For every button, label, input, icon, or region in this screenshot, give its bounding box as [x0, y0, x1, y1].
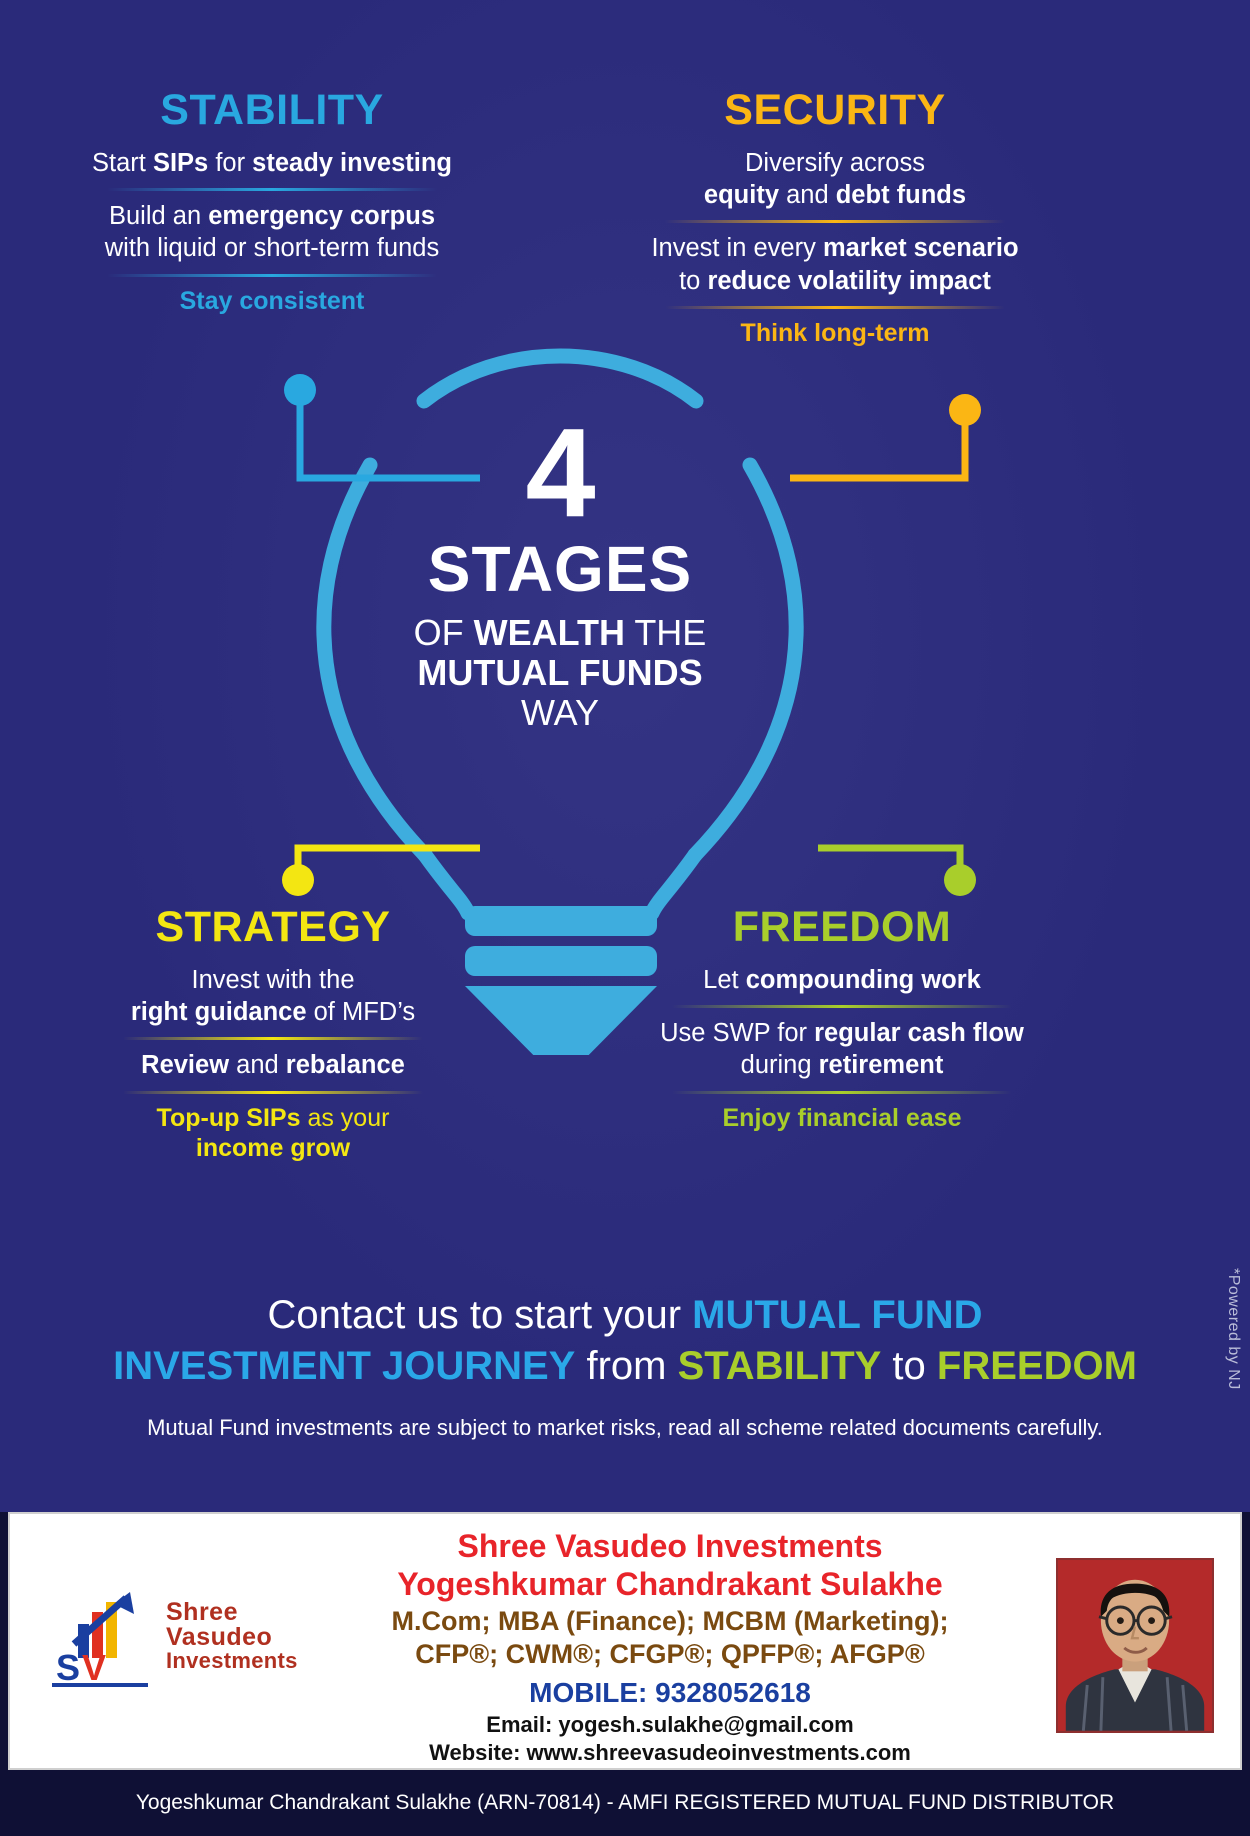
- quadrant-security-tag: Think long-term: [610, 318, 1060, 348]
- svg-text:S: S: [56, 1647, 80, 1688]
- stage-count: 4: [340, 415, 780, 531]
- quadrant-freedom-tag: Enjoy financial ease: [632, 1103, 1052, 1133]
- arn-registration-bar: Yogeshkumar Chandrakant Sulakhe (ARN-708…: [0, 1770, 1250, 1836]
- cta-line-1: Contact us to start your MUTUAL FUND: [50, 1290, 1200, 1341]
- quadrant-strategy-heading: STRATEGY: [88, 905, 458, 950]
- quadrant-stability-tag: Stay consistent: [42, 286, 502, 316]
- cta-line-2: INVESTMENT JOURNEY from STABILITY to FRE…: [50, 1341, 1200, 1392]
- quadrant-strategy-tag: Top-up SIPs as your income grow: [88, 1103, 458, 1163]
- text-run: with liquid or short-term funds: [105, 234, 439, 262]
- text-run: rebalance: [286, 1051, 405, 1079]
- divider-stability-2: [107, 274, 437, 277]
- qualifications-line-1: M.Com; MBA (Finance); MCBM (Marketing);: [340, 1606, 1000, 1638]
- text-run: STABILITY: [678, 1344, 882, 1388]
- text-run: to: [679, 267, 707, 295]
- brand-logo-words: Shree Vasudeo Investments: [166, 1600, 298, 1672]
- text-run: to: [881, 1344, 937, 1388]
- quadrant-security-body-1: Diversify across equity and debt funds: [610, 147, 1060, 211]
- quadrant-stability-body-1: Start SIPs for steady investing: [42, 147, 502, 179]
- qualifications-line-2: CFP®; CWM®; CFGP®; QPFP®; AFGP®: [340, 1639, 1000, 1671]
- quadrant-freedom-body-2: Use SWP for regular cash flow during ret…: [632, 1017, 1052, 1081]
- text-run: reduce volatility impact: [707, 267, 990, 295]
- text-run: Let: [703, 966, 746, 994]
- text-run: for: [208, 149, 252, 177]
- headline-line-4: MUTUAL FUNDS: [340, 655, 780, 691]
- text-run: Review: [141, 1051, 229, 1079]
- text-run: Contact us to start your: [268, 1293, 693, 1337]
- poster-root: 4 STAGES OF WEALTH THE MUTUAL FUNDS WAY …: [0, 0, 1250, 1836]
- text-run: Use SWP for: [660, 1019, 814, 1047]
- quadrant-stability-body-2: Build an emergency corpus with liquid or…: [42, 200, 502, 264]
- quadrant-freedom-heading: FREEDOM: [632, 905, 1052, 950]
- text-run: as your: [301, 1104, 390, 1132]
- text-run: during: [741, 1051, 819, 1079]
- quadrant-stability-heading: STABILITY: [42, 88, 502, 133]
- text-run: Invest with the: [192, 966, 355, 994]
- text-run: debt funds: [836, 181, 966, 209]
- quadrant-security: SECURITY Diversify across equity and deb…: [610, 88, 1060, 348]
- divider-strategy-2: [123, 1091, 423, 1094]
- brand-logo: S V Shree Vasudeo Investments: [48, 1576, 328, 1696]
- mobile-number[interactable]: MOBILE: 9328052618: [340, 1676, 1000, 1709]
- text-run: from: [575, 1344, 677, 1388]
- text-run: MUTUAL FUND: [692, 1293, 982, 1337]
- divider-security-1: [665, 220, 1005, 223]
- headline-the: THE: [625, 612, 706, 653]
- text-run: SIPs: [153, 149, 208, 177]
- risk-disclaimer: Mutual Fund investments are subject to m…: [40, 1415, 1210, 1441]
- text-run: regular cash flow: [814, 1019, 1024, 1047]
- quadrant-freedom: FREEDOM Let compounding work Use SWP for…: [632, 905, 1052, 1133]
- headline-line-3: OF WEALTH THE: [340, 615, 780, 651]
- company-name: Shree Vasudeo Investments: [340, 1528, 1000, 1566]
- logo-word-3: Investments: [166, 1650, 298, 1672]
- text-run: Start: [92, 149, 153, 177]
- arn-text: Yogeshkumar Chandrakant Sulakhe (ARN-708…: [136, 1791, 1114, 1815]
- stages-word: STAGES: [340, 537, 780, 601]
- advisor-name: Yogeshkumar Chandrakant Sulakhe: [340, 1566, 1000, 1604]
- email-address[interactable]: Email: yogesh.sulakhe@gmail.com: [340, 1712, 1000, 1738]
- logo-word-1: Shree: [166, 1600, 298, 1625]
- svg-text:V: V: [82, 1647, 106, 1688]
- sv-logo-icon: S V: [48, 1584, 156, 1688]
- text-run: INVESTMENT JOURNEY: [113, 1344, 575, 1388]
- text-run: emergency corpus: [208, 202, 435, 230]
- quadrant-strategy-body-1: Invest with the right guidance of MFD’s: [88, 964, 458, 1028]
- text-run: steady investing: [252, 149, 452, 177]
- text-run: FREEDOM: [937, 1344, 1137, 1388]
- quadrant-security-heading: SECURITY: [610, 88, 1060, 133]
- logo-word-2: Vasudeo: [166, 1625, 298, 1650]
- text-run: right guidance: [131, 998, 307, 1026]
- quadrant-strategy: STRATEGY Invest with the right guidance …: [88, 905, 458, 1163]
- divider-freedom-1: [672, 1005, 1012, 1008]
- company-details: Shree Vasudeo Investments Yogeshkumar Ch…: [340, 1528, 1000, 1766]
- call-to-action: Contact us to start your MUTUAL FUND INV…: [50, 1290, 1200, 1392]
- quadrant-stability: STABILITY Start SIPs for steady investin…: [42, 88, 502, 316]
- divider-strategy-1: [123, 1037, 423, 1040]
- text-run: market scenario: [823, 234, 1019, 262]
- text-run: Invest in every: [651, 234, 823, 262]
- text-run: retirement: [819, 1051, 944, 1079]
- text-run: equity: [704, 181, 779, 209]
- divider-security-2: [665, 306, 1005, 309]
- quadrant-freedom-body-1: Let compounding work: [632, 964, 1052, 996]
- text-run: Diversify across: [745, 149, 925, 177]
- divider-stability-1: [107, 188, 437, 191]
- text-run: income grow: [196, 1134, 350, 1162]
- text-run: and: [779, 181, 836, 209]
- powered-by-label: *Powered by NJ: [1224, 1268, 1242, 1390]
- text-run: compounding work: [746, 966, 981, 994]
- center-headline: 4 STAGES OF WEALTH THE MUTUAL FUNDS WAY: [340, 415, 780, 731]
- text-run: Build an: [109, 202, 208, 230]
- headline-wealth: WEALTH: [474, 612, 625, 653]
- text-run: of MFD’s: [307, 998, 416, 1026]
- text-run: Top-up SIPs: [157, 1104, 301, 1132]
- text-run: and: [229, 1051, 286, 1079]
- divider-freedom-2: [672, 1091, 1012, 1094]
- contact-card: S V Shree Vasudeo Investments Shree Vasu…: [8, 1512, 1242, 1770]
- headline-line-5: WAY: [340, 695, 780, 731]
- website-url[interactable]: Website: www.shreevasudeoinvestments.com: [340, 1740, 1000, 1766]
- advisor-photo: [1056, 1558, 1214, 1733]
- quadrant-strategy-body-2: Review and rebalance: [88, 1049, 458, 1081]
- quadrant-security-body-2: Invest in every market scenario to reduc…: [610, 232, 1060, 296]
- headline-of: OF: [414, 612, 474, 653]
